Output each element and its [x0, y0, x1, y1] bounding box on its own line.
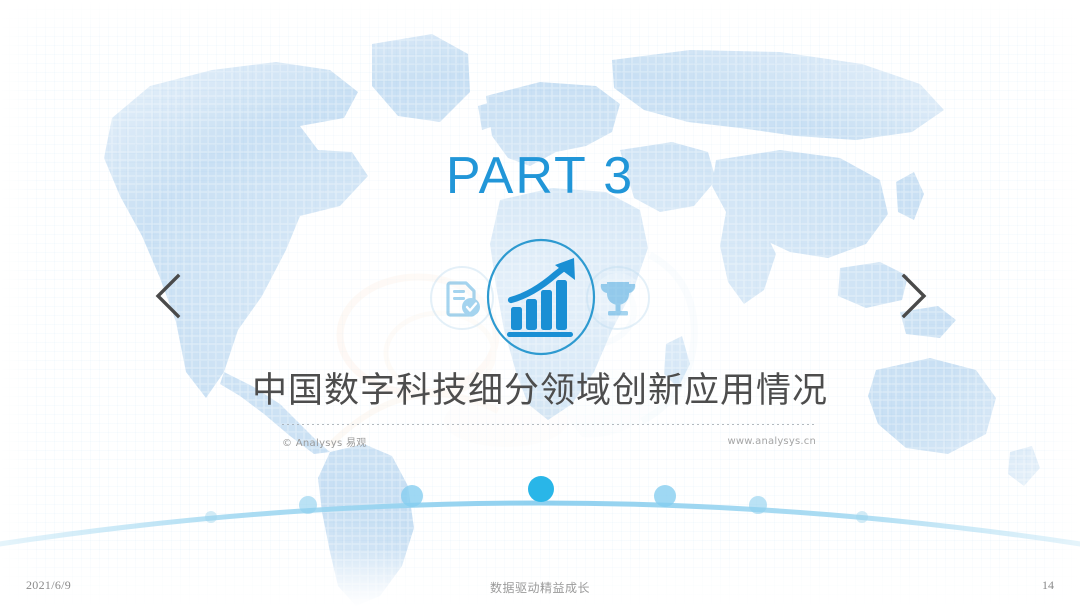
icon-cluster	[420, 238, 660, 360]
growth-bar-chart-icon	[482, 234, 600, 360]
chevron-left-icon[interactable]	[148, 268, 192, 324]
brand-row: © Analysys 易观 www.analysys.cn	[282, 434, 816, 452]
slide-footer: 2021/6/9 数据驱动精益成长 14	[0, 568, 1080, 608]
chevron-right-icon[interactable]	[890, 268, 934, 324]
page-number: 14	[1042, 578, 1054, 593]
title-divider	[282, 424, 816, 425]
footer-tagline: 数据驱动精益成长	[0, 579, 1080, 596]
page-title: 中国数字科技细分领域创新应用情况	[0, 371, 1080, 411]
part-label: PART 3	[0, 150, 1080, 202]
slide-part-3: PART 3	[0, 0, 1080, 608]
website-link[interactable]: www.analysys.cn	[728, 436, 816, 447]
copyright-text: © Analysys 易观	[282, 434, 367, 449]
